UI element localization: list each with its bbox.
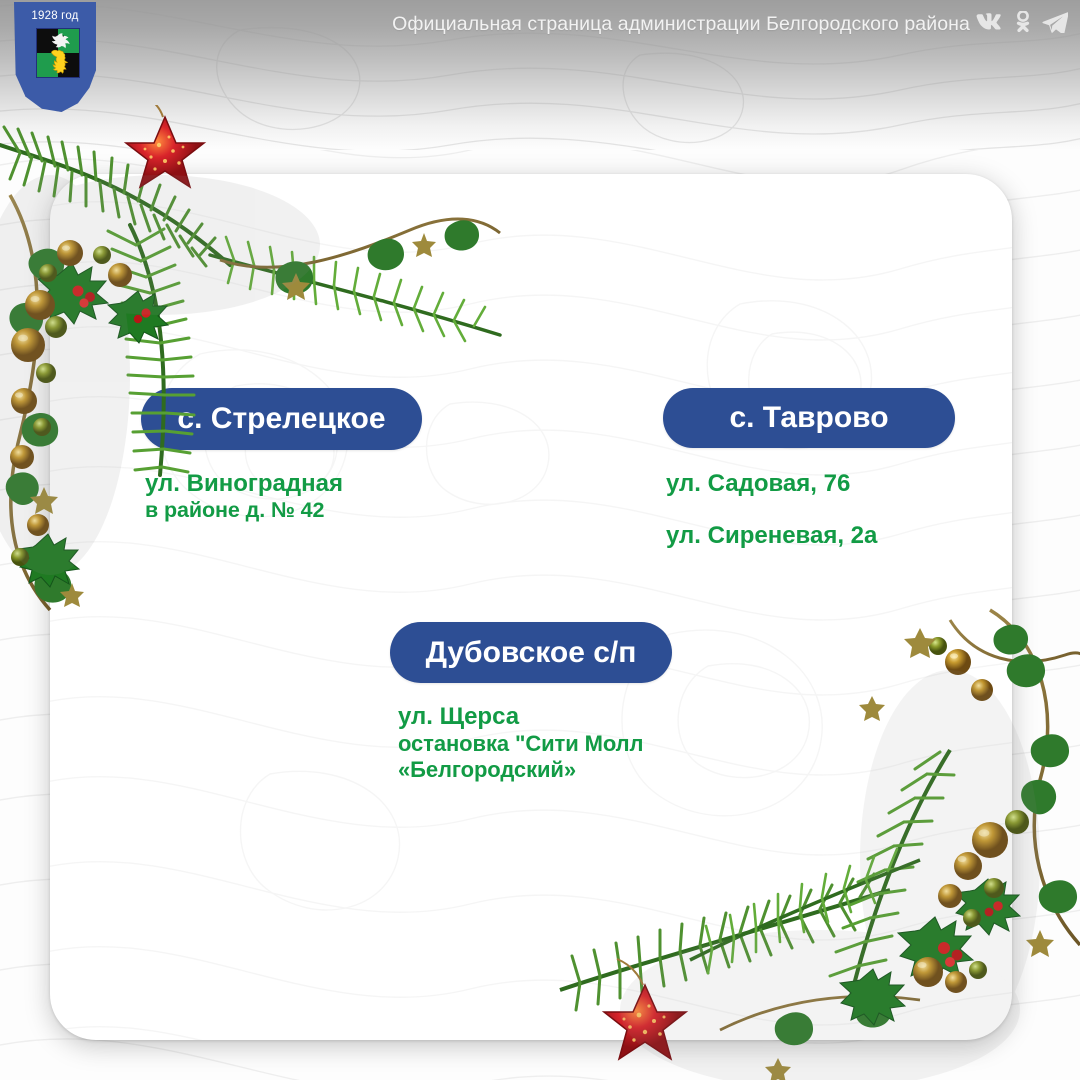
address-detail-second: «Белгородский»	[398, 757, 672, 783]
location-badge[interactable]: с. Таврово	[663, 388, 955, 448]
address-list: ул. Щерса остановка "Сити Молл «Белгород…	[390, 703, 672, 783]
logo-year-label: 1928 год	[14, 10, 96, 22]
address-list: ул. Садовая, 76 ул. Сиреневая, 2а	[663, 470, 955, 551]
location-block-strelezkoe: с. Стрелецкое ул. Виноградная в районе д…	[141, 388, 422, 524]
vk-icon[interactable]	[976, 12, 1004, 32]
social-links	[976, 11, 1068, 33]
coat-of-arms-icon	[36, 28, 80, 78]
address-street: ул. Сиреневая, 2а	[666, 522, 955, 550]
telegram-icon[interactable]	[1042, 11, 1068, 33]
lion-icon	[45, 48, 72, 75]
address-detail: в районе д. № 42	[145, 498, 422, 523]
address-street: ул. Виноградная	[145, 470, 422, 498]
header-title: Официальная страница администрации Белго…	[392, 13, 970, 36]
location-block-tavrovo: с. Таврово ул. Садовая, 76 ул. Сиреневая…	[663, 388, 955, 575]
address-detail: остановка "Сити Молл	[398, 731, 672, 757]
header-bar: Официальная страница администрации Белго…	[0, 0, 1080, 46]
address-street: ул. Щерса	[398, 703, 672, 731]
card-topographic-pattern	[50, 174, 1012, 1040]
odnoklassniki-icon[interactable]	[1015, 11, 1031, 33]
location-badge[interactable]: с. Стрелецкое	[141, 388, 422, 450]
poster-canvas: Официальная страница администрации Белго…	[0, 0, 1080, 1080]
address-list: ул. Виноградная в районе д. № 42	[141, 470, 422, 524]
content-card	[50, 174, 1012, 1040]
location-badge[interactable]: Дубовское с/п	[390, 622, 672, 683]
administration-logo[interactable]: 1928 год	[14, 2, 96, 112]
location-block-dubovskoe: Дубовское с/п ул. Щерса остановка "Сити …	[390, 622, 672, 783]
address-street: ул. Садовая, 76	[666, 470, 955, 498]
